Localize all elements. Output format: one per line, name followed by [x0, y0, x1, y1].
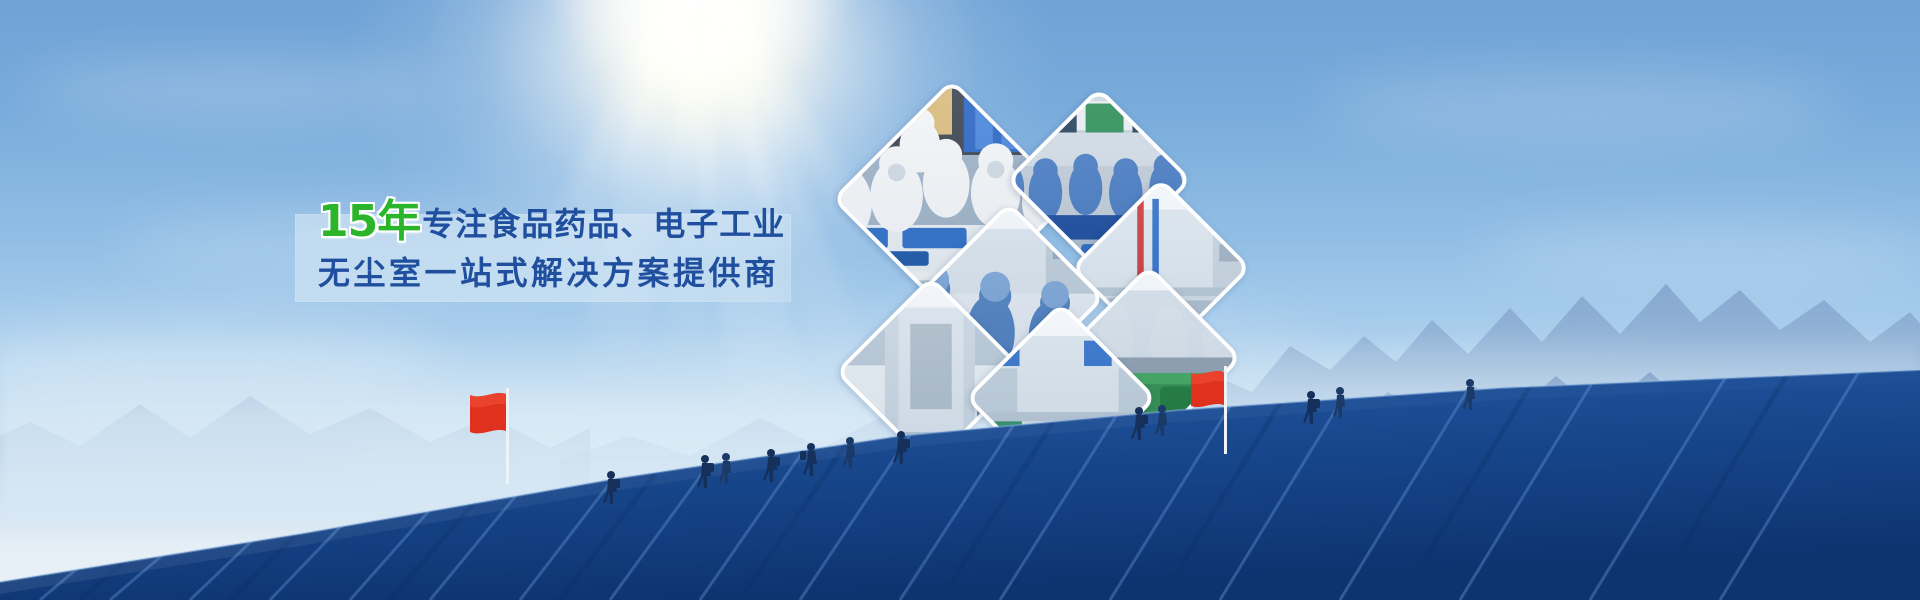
climber-silhouette: [1460, 378, 1480, 414]
climber-silhouette: [600, 470, 622, 508]
climber-silhouette: [1128, 406, 1150, 444]
years-badge: 15年: [318, 200, 420, 244]
climber-silhouette: [694, 454, 716, 492]
hero-banner: 15年 专注食品药品、电子工业 无尘室一站式解决方案提供商: [0, 0, 1920, 600]
headline-line-1-text: 专注食品药品、电子工业: [422, 208, 785, 240]
climber-silhouette: [800, 442, 822, 480]
cloud: [1320, 70, 1840, 142]
climber-silhouette: [1300, 390, 1322, 428]
sun-core-icon: [550, 0, 850, 90]
headline-block: 15年 专注食品药品、电子工业 无尘室一站式解决方案提供商: [318, 200, 785, 294]
cloud: [30, 60, 450, 120]
climber-silhouette: [716, 452, 736, 488]
headline-line-2: 无尘室一站式解决方案提供商: [318, 252, 785, 294]
climber-silhouette: [760, 448, 782, 486]
summit-flag-right: [1180, 366, 1246, 458]
cloud: [1480, 220, 1920, 286]
foreground-ridge: [0, 370, 1920, 600]
summit-flag-left: [458, 388, 528, 488]
climber-silhouette: [890, 430, 912, 468]
climber-silhouette: [840, 436, 860, 472]
headline-line-1: 15年 专注食品药品、电子工业: [318, 200, 785, 246]
climber-silhouette: [1152, 404, 1172, 440]
climber-silhouette: [1330, 386, 1350, 422]
